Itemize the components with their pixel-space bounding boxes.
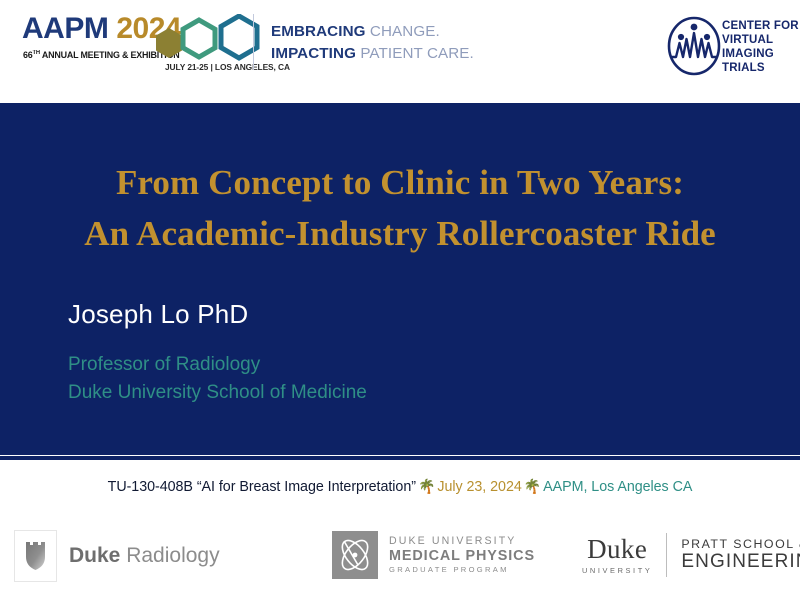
atom-orbit-mark	[332, 531, 378, 579]
pratt-line-1-main: PRATT SCHOOL	[681, 537, 799, 551]
pratt-duke-university: UNIVERSITY	[582, 566, 652, 575]
duke-radiology-bold: Duke	[69, 544, 120, 567]
pratt-line-2: ENGINEERING	[681, 551, 800, 573]
medphys-line-2: MEDICAL PHYSICS	[389, 548, 535, 565]
tagline-line-1: EMBRACING CHANGE.	[271, 21, 474, 43]
duke-radiology-regular: Radiology	[120, 544, 219, 567]
presenter-name: Joseph Lo PhD	[68, 299, 248, 330]
sponsor-logo-row: Duke Radiology DUKE UNIVERSITY MEDICAL P…	[0, 518, 800, 600]
header-bar: AAPM 2024 66TH ANNUAL MEETING & EXHIBITI…	[0, 0, 800, 103]
hexagon-cluster-icon	[147, 14, 267, 72]
header-divider	[253, 14, 254, 70]
cvit-logo: CENTER FOR VIRTUAL IMAGING TRIALS	[666, 10, 794, 84]
aapm-word: AAPM	[22, 14, 108, 44]
pratt-line-1: PRATT SCHOOL of	[681, 537, 800, 552]
session-venue: AAPM, Los Angeles CA	[543, 479, 692, 495]
duke-medical-physics-logo: DUKE UNIVERSITY MEDICAL PHYSICS GRADUATE…	[332, 526, 522, 584]
panel-bottom-rule	[0, 455, 800, 460]
tagline-patient-care: PATIENT CARE.	[356, 45, 474, 62]
presentation-title: From Concept to Clinic in Two Years: An …	[0, 157, 800, 260]
palm-tree-icon-left: 🌴	[416, 478, 437, 494]
pratt-school-text: PRATT SCHOOL of ENGINEERING	[681, 537, 800, 574]
duke-shield-icon	[25, 541, 47, 571]
affiliation-line-1: Professor of Radiology	[68, 351, 367, 379]
pratt-duke-name: Duke	[582, 536, 652, 563]
medphys-line-3: GRADUATE PROGRAM	[389, 565, 535, 574]
cvit-logo-text: CENTER FOR VIRTUAL IMAGING TRIALS	[722, 19, 799, 75]
duke-shield-frame	[14, 530, 57, 582]
cvit-line-3: IMAGING	[722, 47, 799, 61]
tagline-embracing: EMBRACING	[271, 23, 366, 40]
affiliation-line-2: Duke University School of Medicine	[68, 379, 367, 407]
conference-tagline: EMBRACING CHANGE. IMPACTING PATIENT CARE…	[271, 21, 474, 64]
tagline-impacting: IMPACTING	[271, 45, 356, 62]
duke-radiology-logo: Duke Radiology	[14, 526, 244, 586]
session-code-title: TU-130-408B “AI for Breast Image Interpr…	[108, 479, 416, 495]
title-line-2: An Academic-Industry Rollercoaster Ride	[0, 208, 800, 259]
title-line-1: From Concept to Clinic in Two Years:	[0, 157, 800, 208]
cvit-line-1: CENTER FOR	[722, 19, 799, 33]
session-footer: TU-130-408B “AI for Breast Image Interpr…	[0, 478, 800, 495]
pratt-school-logo: Duke UNIVERSITY PRATT SCHOOL of ENGINEER…	[582, 528, 782, 582]
cvit-line-4: TRIALS	[722, 61, 799, 75]
medphys-line-1: DUKE UNIVERSITY	[389, 535, 535, 548]
aapm-conference-logo: AAPM 2024 66TH ANNUAL MEETING & EXHIBITI…	[22, 12, 272, 74]
atom-orbit-icon	[332, 531, 378, 579]
duke-radiology-text: Duke Radiology	[69, 544, 220, 568]
session-date: July 23, 2024	[437, 479, 521, 495]
virtual-imaging-trials-people-icon	[666, 15, 722, 77]
tagline-line-2: IMPACTING PATIENT CARE.	[271, 43, 474, 65]
cvit-line-2: VIRTUAL	[722, 33, 799, 47]
presenter-affiliation: Professor of Radiology Duke University S…	[68, 351, 367, 407]
duke-university-wordmark: Duke UNIVERSITY	[582, 536, 652, 575]
pratt-divider	[666, 533, 667, 577]
medical-physics-text: DUKE UNIVERSITY MEDICAL PHYSICS GRADUATE…	[389, 535, 535, 574]
title-panel: From Concept to Clinic in Two Years: An …	[0, 103, 800, 455]
tagline-change: CHANGE.	[366, 23, 440, 40]
palm-tree-icon-right: 🌴	[522, 478, 543, 494]
